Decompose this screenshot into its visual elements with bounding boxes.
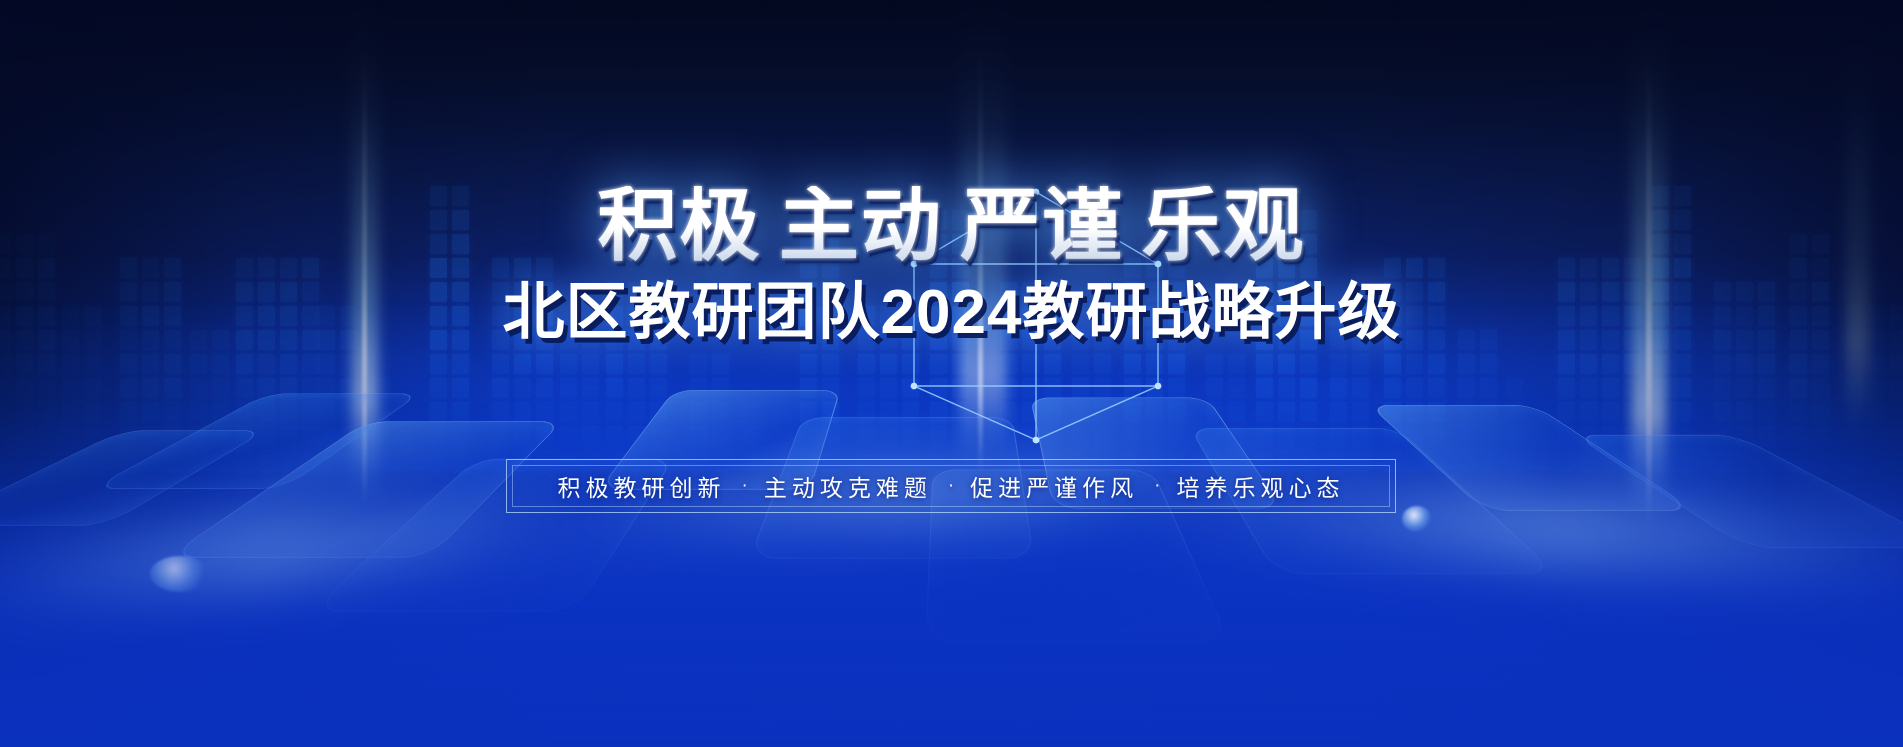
headline-separator: · <box>1124 207 1141 245</box>
subheadline: 北区教研团队2024教研战略升级 <box>0 282 1903 344</box>
tagline-item-3: 促进严谨作风 <box>970 469 1138 503</box>
headline-word-1: 积极 <box>598 181 762 270</box>
tagline-item-1: 积极教研创新 <box>558 469 726 503</box>
banner-root: 积极·主动·严谨·乐观 北区教研团队2024教研战略升级 积极教研创新 · 主动… <box>0 0 1903 747</box>
headline-separator: · <box>943 207 960 245</box>
tagline-item-4: 培养乐观心态 <box>1176 469 1344 503</box>
banner-content: 积极·主动·严谨·乐观 北区教研团队2024教研战略升级 积极教研创新 · 主动… <box>0 0 1903 747</box>
headline: 积极·主动·严谨·乐观 <box>0 186 1903 266</box>
headline-word-4: 乐观 <box>1141 181 1305 270</box>
tagline-list: 积极教研创新 · 主动攻克难题 · 促进严谨作风 · 培养乐观心态 <box>507 460 1395 512</box>
headline-separator: · <box>762 207 779 245</box>
tagline-item-2: 主动攻克难题 <box>764 469 932 503</box>
tagline-separator: · <box>742 475 748 497</box>
tagline-box: 积极教研创新 · 主动攻克难题 · 促进严谨作风 · 培养乐观心态 <box>506 459 1396 513</box>
tagline-separator: · <box>948 475 954 497</box>
tagline-separator: · <box>1154 475 1160 497</box>
headline-word-3: 严谨 <box>960 181 1124 270</box>
headline-word-2: 主动 <box>779 181 943 270</box>
